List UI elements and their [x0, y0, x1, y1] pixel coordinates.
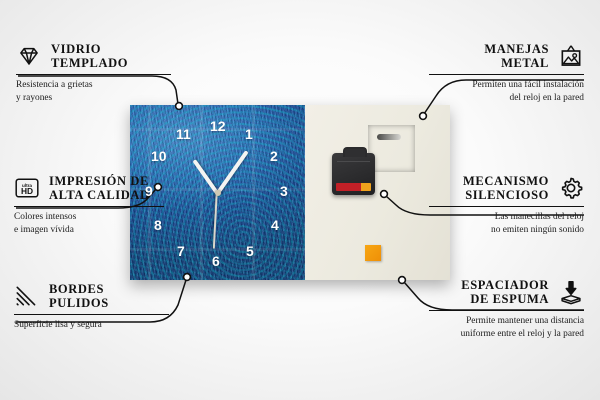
clock-numeral-12: 12 — [210, 119, 226, 133]
feature-desc-line2: no emiten ningún sonido — [429, 224, 584, 236]
clock-numeral-1: 1 — [245, 127, 253, 141]
infographic-canvas: 12 1 2 3 4 5 6 7 8 9 10 11 — [0, 0, 600, 400]
feature-espaciador-espuma: ESPACIADOR DE ESPUMA Permite mantener un… — [429, 278, 584, 340]
hanging-frame-icon — [558, 43, 584, 69]
foam-spacer-icon — [558, 279, 584, 305]
feature-title-line1: ESPACIADOR — [461, 278, 549, 292]
clock-center-cap — [215, 190, 221, 196]
clock-numeral-5: 5 — [246, 244, 254, 258]
clock-numeral-10: 10 — [151, 149, 167, 163]
feature-desc-line1: Colores intensos — [14, 211, 164, 223]
feature-divider — [429, 206, 584, 207]
clock-hour-hand — [192, 159, 218, 194]
feature-vidrio-templado: VIDRIO TEMPLADO Resistencia a grietas y … — [16, 42, 171, 104]
feature-desc-line2: e imagen vívida — [14, 224, 164, 236]
feature-desc-line1: Permiten una fácil instalación — [429, 79, 584, 91]
feature-title-line1: VIDRIO — [51, 42, 128, 56]
mechanism-seam — [337, 161, 370, 162]
feature-impresion-alta-calidad: ultra HD IMPRESIÓN DE ALTA CALIDAD Color… — [14, 174, 164, 236]
feature-description: Colores intensos e imagen vívida — [14, 211, 164, 236]
feature-desc-line1: Resistencia a grietas — [16, 79, 171, 91]
foam-spacer — [365, 245, 381, 261]
svg-text:HD: HD — [21, 187, 33, 197]
feature-manejas-metal: MANEJAS METAL Permiten una fácil instala… — [429, 42, 584, 104]
clock-mechanism — [332, 153, 375, 195]
feature-header: BORDES PULIDOS — [14, 282, 169, 311]
feature-title-line1: MANEJAS — [484, 42, 549, 56]
feature-divider — [429, 74, 584, 75]
feature-divider — [14, 206, 164, 207]
gear-icon — [558, 175, 584, 201]
feature-title-line2: METAL — [484, 56, 549, 70]
feature-header: ultra HD IMPRESIÓN DE ALTA CALIDAD — [14, 174, 164, 203]
clock-second-hand — [213, 193, 217, 249]
feature-description: Permite mantener una distancia uniforme … — [429, 315, 584, 340]
feature-title: MECANISMO SILENCIOSO — [463, 174, 549, 203]
feature-title: MANEJAS METAL — [484, 42, 549, 71]
diamond-icon — [16, 43, 42, 69]
feature-desc-line1: Superficie lisa y segura — [14, 319, 169, 331]
feature-description: Las manecillas del reloj no emiten ningú… — [429, 211, 584, 236]
feature-title-line2: ALTA CALIDAD — [49, 188, 150, 202]
clock-minute-hand — [216, 150, 249, 195]
feature-desc-line1: Permite mantener una distancia — [429, 315, 584, 327]
feature-title-line2: DE ESPUMA — [461, 292, 549, 306]
feature-title-line1: BORDES — [49, 282, 109, 296]
clock-numeral-7: 7 — [177, 244, 185, 258]
clock-numeral-4: 4 — [271, 218, 279, 232]
feature-divider — [16, 74, 171, 75]
feature-title-line1: MECANISMO — [463, 174, 549, 188]
feature-description: Resistencia a grietas y rayones — [16, 79, 171, 104]
hanger-slot — [377, 134, 401, 140]
clock-numeral-6: 6 — [212, 254, 220, 268]
feature-desc-line2: uniforme entre el reloj y la pared — [429, 328, 584, 340]
feature-title: BORDES PULIDOS — [49, 282, 109, 311]
feature-title: IMPRESIÓN DE ALTA CALIDAD — [49, 174, 150, 203]
feature-title-line2: TEMPLADO — [51, 56, 128, 70]
feature-header: ESPACIADOR DE ESPUMA — [429, 278, 584, 307]
feature-title-line2: PULIDOS — [49, 296, 109, 310]
clock-numeral-11: 11 — [176, 127, 191, 141]
feature-desc-line2: y rayones — [16, 92, 171, 104]
feature-header: MECANISMO SILENCIOSO — [429, 174, 584, 203]
feature-description: Superficie lisa y segura — [14, 319, 169, 331]
metal-hanger-plate — [368, 125, 415, 172]
feature-divider — [429, 310, 584, 311]
mechanism-label-strip — [336, 183, 371, 191]
feature-mecanismo-silencioso: MECANISMO SILENCIOSO Las manecillas del … — [429, 174, 584, 236]
polished-edge-icon — [14, 283, 40, 309]
feature-description: Permiten una fácil instalación del reloj… — [429, 79, 584, 104]
feature-bordes-pulidos: BORDES PULIDOS Superficie lisa y segura — [14, 282, 169, 332]
product-photo: 12 1 2 3 4 5 6 7 8 9 10 11 — [130, 105, 450, 280]
feature-title: VIDRIO TEMPLADO — [51, 42, 128, 71]
feature-desc-line2: del reloj en la pared — [429, 92, 584, 104]
feature-divider — [14, 314, 169, 315]
clock-numeral-3: 3 — [280, 184, 288, 198]
feature-header: MANEJAS METAL — [429, 42, 584, 71]
clock-numeral-2: 2 — [270, 149, 278, 163]
clock-numeral-9: 9 — [145, 184, 153, 198]
feature-desc-line1: Las manecillas del reloj — [429, 211, 584, 223]
mechanism-hook — [343, 147, 367, 157]
feature-title-line1: IMPRESIÓN DE — [49, 174, 150, 188]
feature-title: ESPACIADOR DE ESPUMA — [461, 278, 549, 307]
feature-header: VIDRIO TEMPLADO — [16, 42, 171, 71]
ultra-hd-icon: ultra HD — [14, 175, 40, 201]
clock-numeral-8: 8 — [154, 218, 162, 232]
feature-title-line2: SILENCIOSO — [463, 188, 549, 202]
